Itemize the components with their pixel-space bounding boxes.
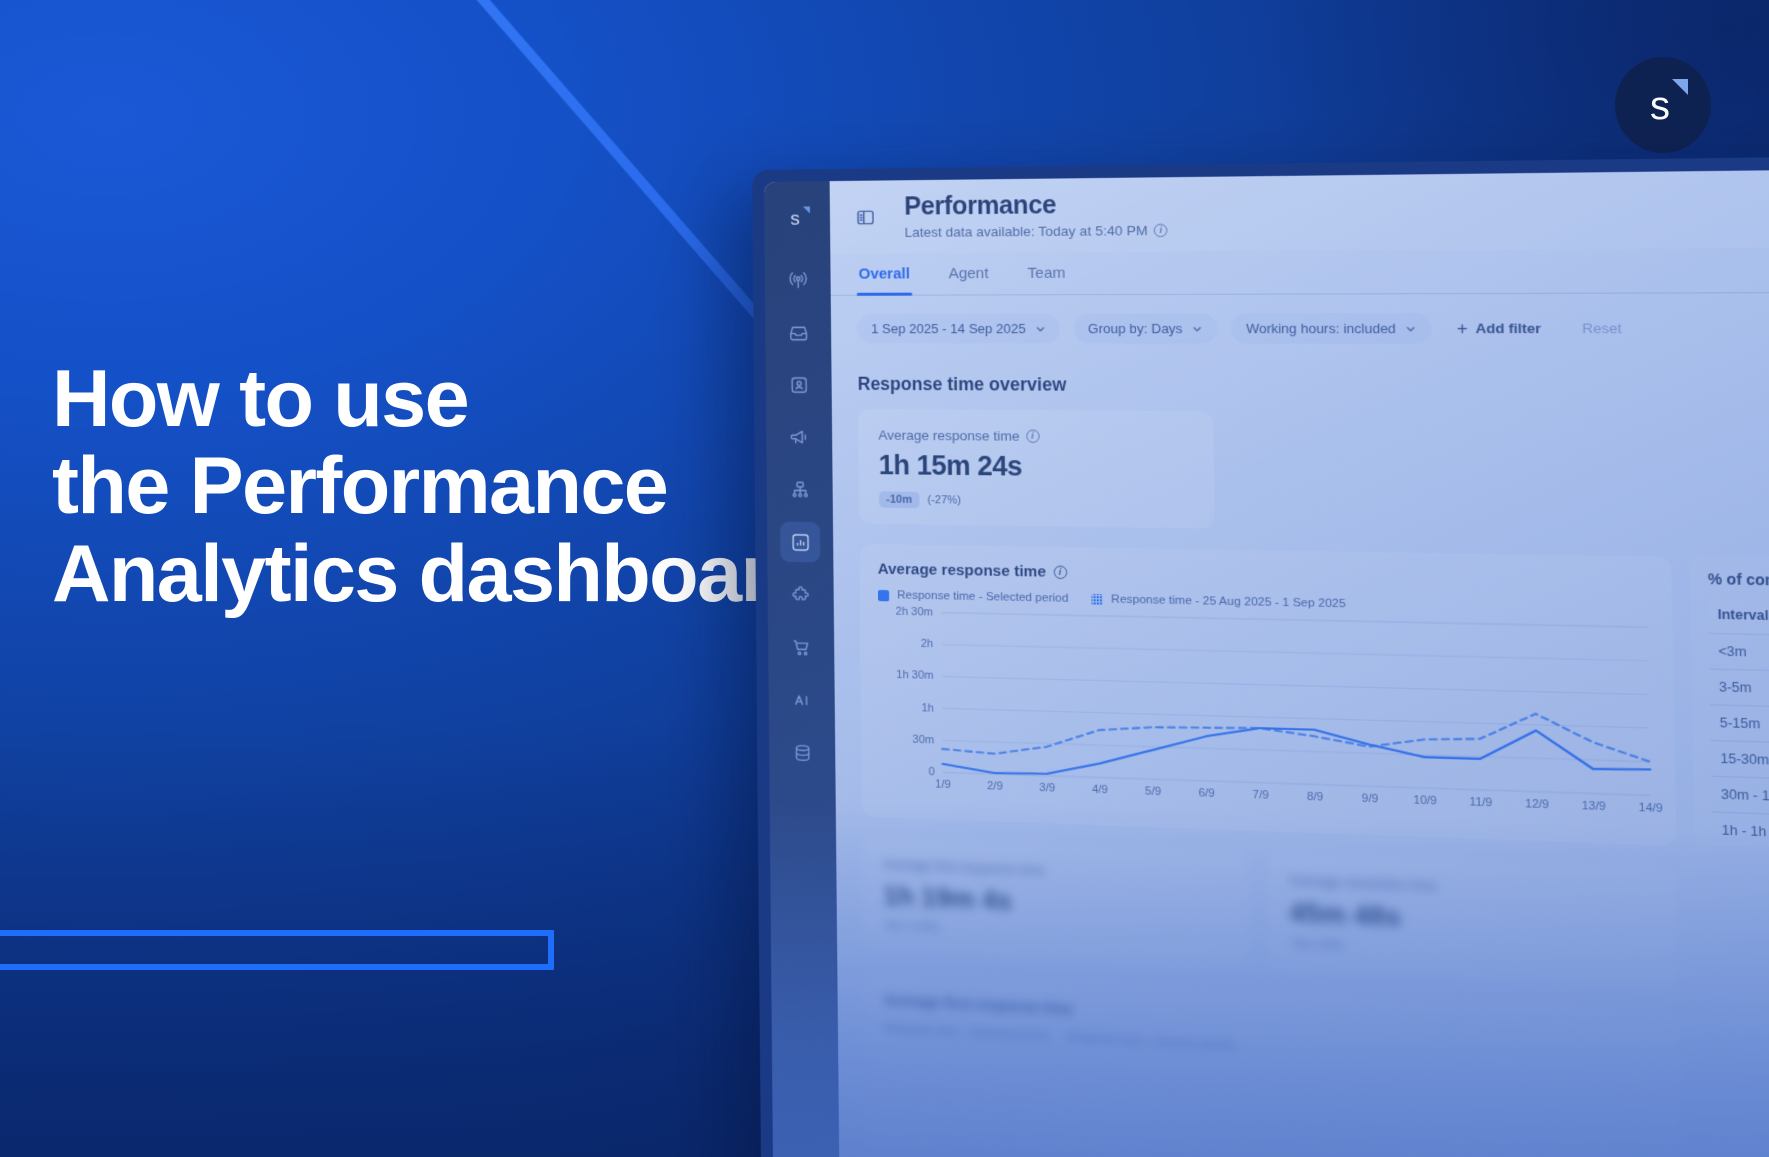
kpi-delta: -10m (-27%) — [879, 491, 1193, 511]
chevron-down-icon — [1035, 323, 1045, 333]
y-axis-tick: 1h — [921, 702, 934, 715]
sidebar-item-broadcast[interactable] — [778, 260, 818, 300]
lower-kpi-card-resolution: Average resolution time 45m 48s -3m (-9%… — [1267, 852, 1679, 989]
lower-chart-card: Average first response time Response tim… — [864, 972, 1684, 1157]
lower-legend-label-1: Response time - Selected period — [884, 1022, 1048, 1043]
kpi-delta-percent: (-27%) — [927, 494, 961, 507]
sidebar-item-commerce[interactable] — [781, 626, 821, 667]
table-title: % of conversations — [1708, 570, 1769, 592]
table-body: <3m3-5m5-15m15-30m30m - 1h1h - 1h 30m1h … — [1709, 633, 1769, 855]
y-axis-tick: 2h 30m — [896, 606, 933, 619]
chart-title: Average response time — [878, 560, 1046, 580]
y-axis-tick: 2h — [921, 638, 934, 651]
lower-kpi-card-first-response: Average first response time 1h 19m 4s -6… — [862, 837, 1249, 969]
x-axis-tick: 14/9 — [1639, 801, 1663, 815]
sidebar-toggle-icon[interactable] — [844, 196, 887, 239]
app-sidebar[interactable]: s — [764, 181, 840, 1157]
date-range-filter[interactable]: 1 Sep 2025 - 14 Sep 2025 — [857, 314, 1060, 344]
x-axis-tick: 6/9 — [1198, 787, 1214, 800]
chart-gridlines — [941, 613, 1650, 796]
kpi-delta-chip: -10m — [879, 491, 919, 508]
y-axis-tick: 30m — [912, 733, 934, 746]
lower-legend-label-2: Response time - previous period — [1067, 1032, 1234, 1053]
y-axis-tick: 0 — [928, 766, 934, 779]
brand-letter: s — [1650, 86, 1670, 126]
decorative-rule-box — [0, 930, 554, 970]
page-subtitle-text: Latest data available: Today at 5:40 PM — [904, 223, 1147, 240]
group-by-filter[interactable]: Group by: Days — [1073, 313, 1217, 343]
chevron-down-icon — [1406, 323, 1417, 334]
chart-legend: Response time - Selected period Response… — [878, 589, 1652, 617]
line-chart-plot: 030m1h1h 30m2h2h 30m 1/92/93/94/95/96/97… — [878, 611, 1655, 819]
app-main: Performance Latest data available: Today… — [830, 168, 1769, 1157]
chevron-down-icon — [1192, 323, 1203, 333]
app-content: Response time overview Average response … — [831, 357, 1769, 1157]
sidebar-item-ai[interactable] — [781, 679, 821, 721]
x-axis-tick: 1/9 — [935, 778, 951, 791]
working-hours-filter[interactable]: Working hours: included — [1231, 313, 1432, 344]
org-chart-icon — [789, 479, 810, 500]
info-icon[interactable]: i — [1154, 223, 1168, 237]
date-range-label: 1 Sep 2025 - 14 Sep 2025 — [871, 321, 1026, 336]
content-left-column: Response time overview Average response … — [858, 368, 1703, 1157]
puzzle-icon — [790, 584, 811, 606]
lower-kpi-row: Average first response time 1h 19m 4s -6… — [862, 837, 1679, 989]
sidebar-item-data[interactable] — [782, 732, 822, 774]
y-axis-tick: 1h 30m — [896, 669, 933, 682]
brand-logo-badge: s — [1615, 57, 1711, 153]
x-axis-tick: 7/9 — [1252, 789, 1269, 802]
bar-chart-icon — [790, 531, 811, 553]
contacts-icon — [788, 374, 809, 395]
x-axis-tick: 8/9 — [1307, 791, 1324, 804]
group-by-label: Group by: Days — [1088, 321, 1183, 337]
chart-svg — [941, 613, 1650, 796]
page-subtitle: Latest data available: Today at 5:40 PM … — [904, 222, 1167, 239]
tab-overall[interactable]: Overall — [856, 259, 912, 295]
reset-button[interactable]: Reset — [1582, 320, 1622, 336]
lower-kpi-value-2: 45m 48s — [1289, 896, 1655, 944]
legend-swatch-solid-icon — [878, 589, 889, 600]
x-axis-tick: 3/9 — [1039, 782, 1055, 795]
info-icon[interactable]: i — [1053, 565, 1067, 579]
page-title-block: Performance Latest data available: Today… — [904, 191, 1168, 240]
plus-icon: + — [1457, 319, 1468, 337]
sidebar-item-analytics[interactable] — [780, 521, 820, 562]
content-right-column: % of conversations Interval <3m3-5m5-15m… — [1686, 370, 1769, 1157]
conversations-interval-table: % of conversations Interval <3m3-5m5-15m… — [1689, 555, 1769, 855]
legend-item-selected-period[interactable]: Response time - Selected period — [878, 589, 1069, 605]
database-icon — [792, 742, 813, 764]
tab-agent[interactable]: Agent — [946, 259, 991, 295]
inbox-icon — [788, 322, 809, 343]
tab-bar[interactable]: Overall Agent Team — [830, 247, 1769, 296]
sidebar-item-inbox[interactable] — [778, 312, 818, 352]
legend-item-previous-period[interactable]: Response time - 25 Aug 2025 - 1 Sep 2025 — [1091, 593, 1346, 610]
cart-icon — [791, 636, 812, 658]
sidebar-item-contacts[interactable] — [779, 364, 819, 404]
add-filter-label: Add filter — [1475, 320, 1541, 336]
app-window-frame: s — [752, 155, 1769, 1157]
info-icon[interactable]: i — [1026, 429, 1040, 442]
x-axis-tick: 10/9 — [1413, 794, 1437, 808]
x-axis-tick: 9/9 — [1362, 792, 1379, 805]
kpi-label-text: Average response time — [878, 427, 1019, 443]
app-topbar: Performance Latest data available: Today… — [830, 168, 1769, 254]
x-axis-tick: 13/9 — [1582, 800, 1606, 814]
kpi-value: 1h 15m 24s — [879, 450, 1193, 485]
sidebar-logo-letter: s — [790, 209, 800, 231]
app-window: s — [764, 168, 1769, 1157]
sidebar-logo[interactable]: s — [777, 199, 817, 240]
app-window-mockup: s — [752, 155, 1769, 1157]
working-hours-label: Working hours: included — [1246, 321, 1396, 337]
broadcast-icon — [787, 269, 808, 290]
kpi-label: Average response time i — [878, 427, 1192, 445]
brand-triangle-icon — [1672, 79, 1688, 95]
table-row: 1h 30m - 2h — [1713, 847, 1769, 855]
megaphone-icon — [789, 426, 810, 447]
add-filter-button[interactable]: + Add filter — [1457, 319, 1541, 337]
x-axis-tick: 5/9 — [1145, 785, 1161, 798]
sidebar-item-flows[interactable] — [780, 469, 820, 510]
sidebar-item-apps[interactable] — [781, 574, 821, 615]
tab-team[interactable]: Team — [1025, 258, 1067, 294]
legend-label-1: Response time - Selected period — [897, 589, 1068, 605]
section-title-response-time-overview: Response time overview — [858, 374, 1669, 399]
table-row: 1h - 1h 30m — [1712, 812, 1769, 855]
filter-bar[interactable]: 1 Sep 2025 - 14 Sep 2025 Group by: Days … — [831, 293, 1769, 360]
ai-icon — [791, 689, 812, 711]
legend-label-2: Response time - 25 Aug 2025 - 1 Sep 2025 — [1111, 593, 1346, 610]
sidebar-item-campaigns[interactable] — [779, 417, 819, 458]
legend-swatch-dotted-icon — [1091, 594, 1103, 606]
chart-card-average-response-time: Average response time i Response time - … — [859, 544, 1676, 846]
x-axis-tick: 11/9 — [1469, 796, 1492, 810]
chart-title-row: Average response time i — [878, 560, 1652, 591]
plot-area: 030m1h1h 30m2h2h 30m 1/92/93/94/95/96/97… — [941, 613, 1650, 796]
x-axis-tick: 4/9 — [1092, 783, 1108, 796]
x-axis-tick: 2/9 — [987, 780, 1003, 793]
sidebar-logo-triangle-icon — [803, 206, 810, 213]
page-title: Performance — [904, 191, 1167, 222]
kpi-card-average-response-time: Average response time i 1h 15m 24s -10m … — [858, 409, 1215, 529]
lower-kpi-value-1: 1h 19m 4s — [883, 880, 1228, 927]
x-axis-tick: 12/9 — [1525, 798, 1549, 812]
